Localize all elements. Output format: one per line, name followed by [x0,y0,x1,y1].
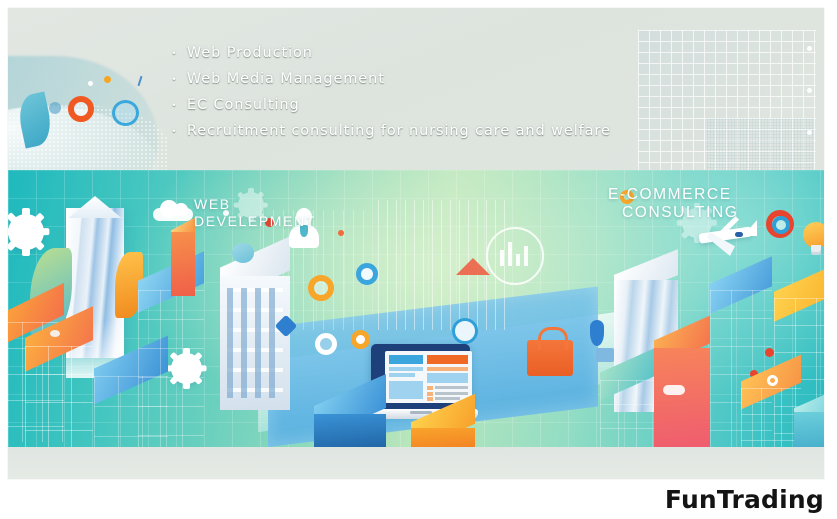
dot-icon [338,230,344,236]
cloud-puff [174,203,188,217]
ring-icon [68,96,94,122]
screen-block [427,367,468,371]
orange-building-block [171,232,195,296]
bullet-icon: ・ [168,72,181,86]
service-list: ・Web Production ・Web Media Management ・E… [168,40,788,144]
service-label: Web Media Management [187,71,385,87]
chart-bar [524,246,528,266]
service-list-item: ・Recruitment consulting for nursing care… [168,118,788,144]
ring-icon [772,216,790,234]
headline-right-line2: CONSULTING [622,204,738,222]
screen-block [435,386,468,389]
clock-icon [452,318,478,344]
teal-building-block [600,380,656,447]
screen-block [435,397,460,400]
screen-block [427,392,433,396]
bulb-base [811,245,821,255]
headline-right-line1: E-COMMERCE [608,186,738,204]
service-list-item: ・Web Media Management [168,66,788,92]
service-list-item: ・EC Consulting [168,92,788,118]
ring-icon [315,333,337,355]
header-band: ・Web Production ・Web Media Management ・E… [8,8,824,170]
orange-building-block [741,388,801,447]
orange-building-block [654,348,710,447]
yellow-building-block [411,428,475,447]
service-list-item: ・Web Production [168,40,788,66]
shopping-bag-icon [527,340,573,376]
gear-icon [8,214,44,250]
headline-left-line2: DEVELEPMENT [194,213,316,230]
pin-icon [590,320,604,346]
screen-block [427,355,468,364]
teal-building-block [794,412,824,447]
triangle-icon [456,258,490,275]
headline-left-line1: WEB [194,196,316,213]
service-label: Recruitment consulting for nursing care … [187,123,611,139]
dot-column-decoration [807,46,812,170]
lightbulb-icon [803,222,824,256]
chart-circle-icon [486,227,544,285]
dot-icon [50,330,60,337]
blue-building-block [138,290,204,447]
brand-wordmark: FunTrading [665,485,824,514]
chart-bar [508,242,512,266]
service-label: Web Production [187,45,313,61]
ring-icon [767,375,778,386]
screen-block [389,355,423,364]
dot-icon [104,76,111,83]
plane-window [735,232,743,237]
page-root: ・Web Production ・Web Media Management ・E… [0,0,837,519]
screen-block [389,381,423,399]
card-footer-strip [8,447,824,479]
bullet-icon: ・ [168,46,181,60]
bullet-icon: ・ [168,124,181,138]
dot-icon [765,348,774,357]
bullet-icon: ・ [168,98,181,112]
ring-icon [356,263,378,285]
cloud-icon [663,385,685,395]
screen-block [427,386,433,390]
chart-bar [500,250,504,266]
screen-block [427,373,468,383]
orange-building-block [25,346,93,447]
dome-decoration [232,243,254,263]
screen-block [389,373,415,377]
box-icon [596,348,614,362]
ring-icon [112,100,139,126]
dot-icon [88,81,93,86]
banner-headline-right: E-COMMERCE CONSULTING [608,186,738,223]
hero-card: ・Web Production ・Web Media Management ・E… [8,8,824,479]
laptop-screen [385,351,472,403]
chart-bar [516,254,520,266]
ring-icon [308,275,334,301]
window-grid [227,288,283,398]
blue-building-block [314,414,386,447]
screen-block [427,397,433,401]
service-label: EC Consulting [187,97,300,113]
hero-illustration-banner: WEB DEVELEPMENT E-COMMERCE CONSULTING [8,170,824,447]
bubble-icon [49,102,61,114]
bag-handle [538,327,568,350]
tick-icon [138,76,143,86]
screen-block [389,367,423,371]
screen-block [435,392,468,395]
banner-headline-left: WEB DEVELEPMENT [194,196,316,229]
